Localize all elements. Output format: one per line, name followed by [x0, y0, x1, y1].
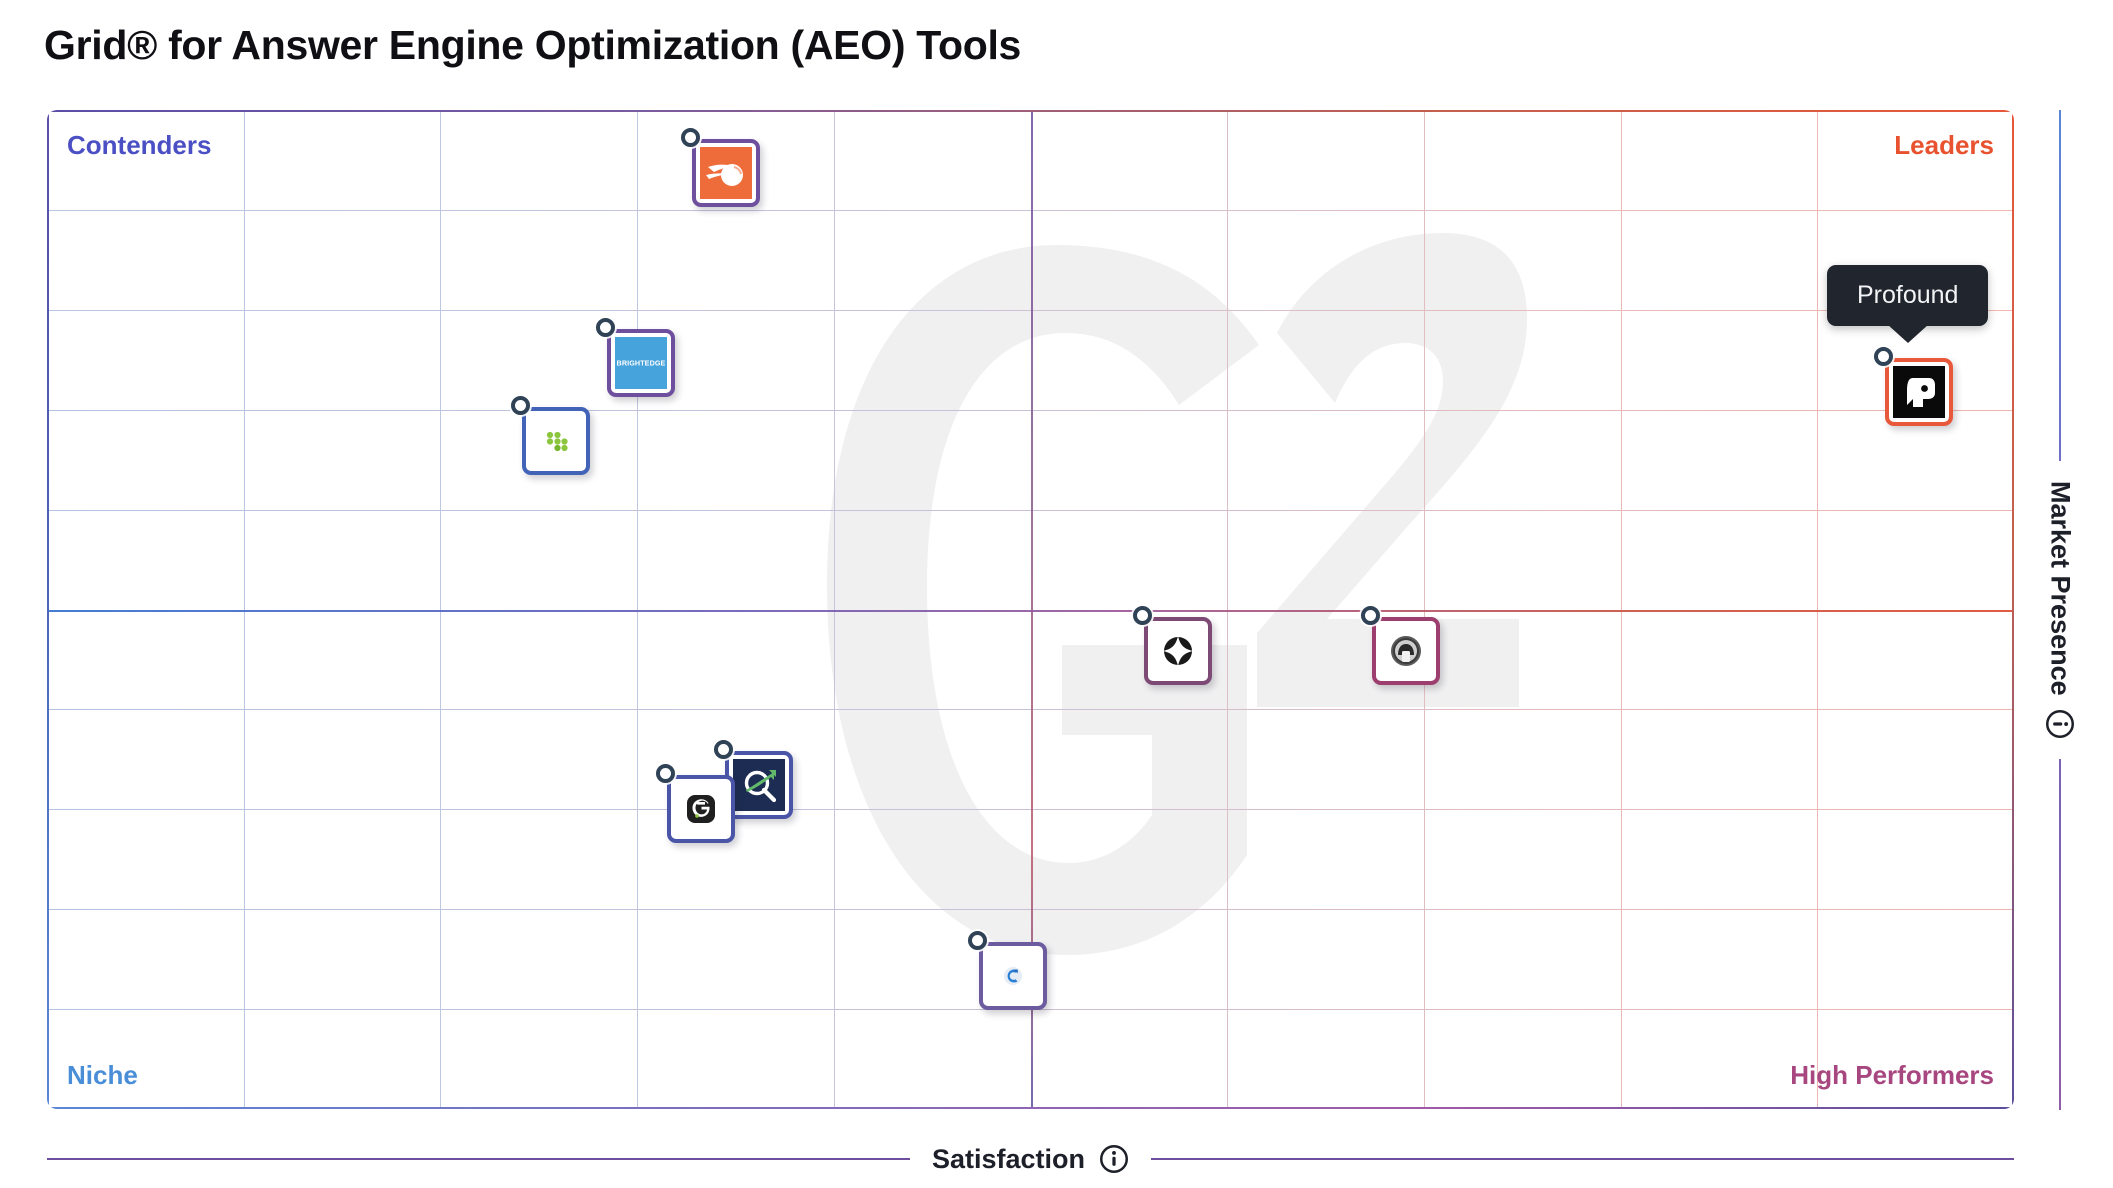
tooltip-profound: Profound — [1827, 265, 1988, 326]
x-axis-center: Satisfaction — [910, 1144, 1151, 1175]
info-circle-icon[interactable] — [1099, 1144, 1129, 1174]
quadrant-label-contenders: Contenders — [67, 130, 211, 161]
y-axis-label: Market Presence — [2045, 481, 2076, 696]
y-axis-rule-bottom — [2059, 759, 2061, 1110]
quadrant-label-high-performers: High Performers — [1790, 1060, 1994, 1091]
x-axis-rule-left — [47, 1158, 910, 1160]
y-axis-rule-top — [2059, 110, 2061, 461]
rounded-g-mark-icon — [675, 783, 727, 835]
grid-point-anchor-dot — [596, 318, 615, 337]
grid-point-anchor-dot — [1361, 606, 1380, 625]
grid-point-anchor-dot — [968, 931, 987, 950]
grid-plot-area: Contenders Leaders Niche High Performers — [47, 110, 2014, 1109]
grid-point-anchor-dot — [714, 740, 733, 759]
profound-mark-icon — [1893, 366, 1945, 418]
x-axis: Satisfaction — [47, 1138, 2014, 1180]
svg-text:BRIGHTEDGE: BRIGHTEDGE — [617, 359, 666, 368]
blue-c-orb-icon — [987, 950, 1039, 1002]
grid-point-anchor-dot — [656, 764, 675, 783]
page-title: Grid® for Answer Engine Optimization (AE… — [44, 22, 1021, 69]
grid-point-anchor-dot — [1874, 347, 1893, 366]
x-axis-label: Satisfaction — [932, 1144, 1085, 1175]
tooltip-label: Profound — [1857, 281, 1958, 309]
y-axis-center: Market Presence — [2045, 461, 2076, 760]
tooltip-arrow-icon — [1887, 324, 1929, 343]
grid-point-anchor-dot — [1133, 606, 1152, 625]
brightedge-wordmark-icon: BRIGHTEDGE — [615, 337, 667, 389]
quadrant-label-leaders: Leaders — [1894, 130, 1994, 161]
quadrant-label-niche: Niche — [67, 1060, 138, 1091]
x-axis-rule-right — [1151, 1158, 2014, 1160]
grid-chart: Contenders Leaders Niche High Performers — [47, 110, 2014, 1109]
grid-point-anchor-dot — [681, 128, 700, 147]
info-circle-icon[interactable] — [2045, 709, 2075, 739]
dark-circle-mark-icon — [1380, 625, 1432, 677]
grid-point-anchor-dot — [511, 396, 530, 415]
green-dots-grid-icon — [530, 415, 582, 467]
semrush-comet-icon — [700, 147, 752, 199]
magnifier-green-arrow-icon — [733, 759, 785, 811]
y-axis: Market Presence — [2040, 110, 2080, 1110]
grid-axis-horizontal-center — [47, 610, 2014, 612]
g2-watermark — [807, 215, 1527, 995]
four-point-star-icon — [1152, 625, 1204, 677]
